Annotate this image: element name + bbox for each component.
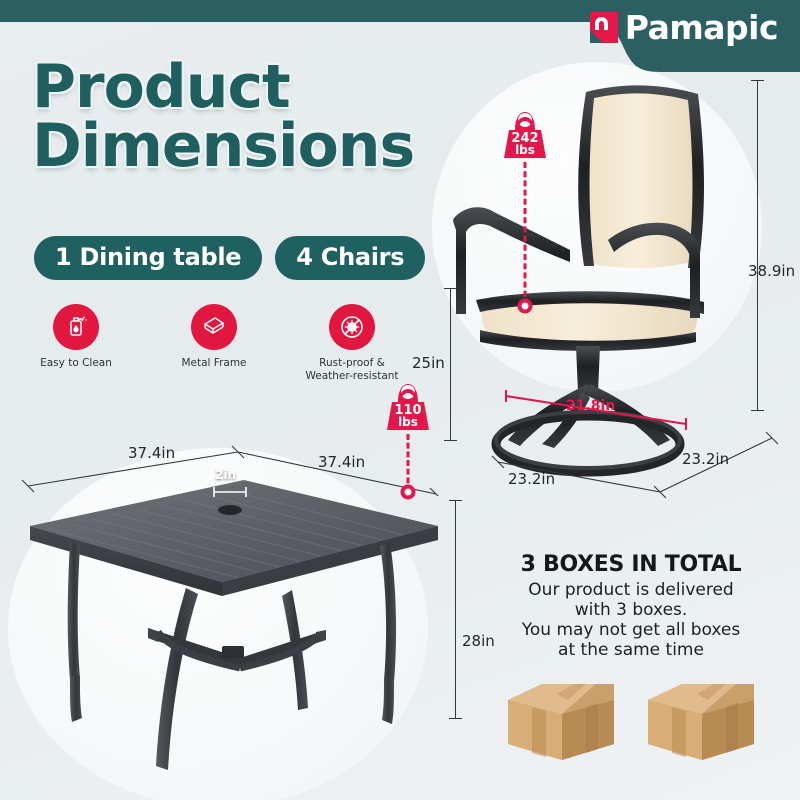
chair-height-tick-top xyxy=(751,80,764,81)
umbrella-hole-marker xyxy=(208,484,252,500)
weight-anchor-dot-chair xyxy=(518,299,533,314)
chair-total-height-label: 38.9in xyxy=(748,262,795,280)
weight-unit-table: lbs xyxy=(398,415,418,429)
weight-badge-table: 110 lbs xyxy=(385,380,431,436)
title-line-2: Dimensions xyxy=(32,117,414,176)
page-title: Product Dimensions xyxy=(32,58,414,176)
weight-leader-line-chair xyxy=(524,162,527,306)
boxes-line-1: Our product is delivered xyxy=(466,580,796,600)
weight-badge-chair: 242 lbs xyxy=(502,108,548,164)
feature-label-metal-frame: Metal Frame xyxy=(162,357,266,370)
chair-width-label: 23.2in xyxy=(682,450,729,468)
brand-logo: Pamapic xyxy=(590,8,778,47)
table-height-tick-top xyxy=(449,500,462,501)
brand-name: Pamapic xyxy=(625,8,778,47)
table-depth-label: 37.4in xyxy=(318,453,365,471)
contents-pill-row: 1 Dining table 4 Chairs xyxy=(34,236,425,280)
feature-easy-to-clean: Easy to Clean xyxy=(24,304,128,382)
table-height-tick-bottom xyxy=(449,718,462,719)
boxes-title: 3 BOXES IN TOTAL xyxy=(466,552,796,577)
table-height-line xyxy=(455,500,456,718)
boxes-line-3: You may not get all boxes xyxy=(466,620,796,640)
table-umbrella-hole-label: 2in xyxy=(215,468,236,482)
rust-proof-icon xyxy=(329,304,375,350)
boxes-line-2: with 3 boxes. xyxy=(466,600,796,620)
table-illustration xyxy=(8,460,458,790)
shipping-box-icon xyxy=(502,670,620,766)
pill-dining-table: 1 Dining table xyxy=(34,236,262,280)
chair-seat-height-line xyxy=(450,288,451,440)
spray-bottle-icon xyxy=(53,304,99,350)
chair-seat-tick-top xyxy=(444,288,457,289)
weight-leader-line-table xyxy=(407,434,410,492)
chair-height-line xyxy=(757,80,758,410)
metal-sheet-icon xyxy=(191,304,237,350)
feature-rust-proof: Rust-proof & Weather-resistant xyxy=(300,304,404,382)
pamapic-logo-mark xyxy=(590,12,618,43)
feature-label-rust-proof: Rust-proof & Weather-resistant xyxy=(300,357,404,382)
feature-list: Easy to Clean Metal Frame xyxy=(24,304,404,382)
infographic-page: Pamapic Product Dimensions 1 Dining tabl… xyxy=(0,0,800,800)
feature-metal-frame: Metal Frame xyxy=(162,304,266,382)
shipping-box-icon xyxy=(642,670,760,766)
table-height-label: 28in xyxy=(462,632,495,650)
boxes-illustration xyxy=(466,670,796,766)
weight-unit-chair: lbs xyxy=(515,143,535,157)
chair-seat-height-label: 25in xyxy=(412,354,445,372)
boxes-line-4: at the same time xyxy=(466,640,796,660)
chair-height-tick-bottom xyxy=(751,410,764,411)
chair-base-diameter-label: 21.8in xyxy=(566,398,615,414)
shipping-boxes-section: 3 BOXES IN TOTAL Our product is delivere… xyxy=(466,552,796,766)
chair-depth-label: 23.2in xyxy=(508,470,555,488)
table-width-label: 37.4in xyxy=(128,444,175,462)
feature-label-easy-to-clean: Easy to Clean xyxy=(24,357,128,370)
pill-chairs: 4 Chairs xyxy=(275,236,425,280)
weight-anchor-dot-table xyxy=(401,485,416,500)
